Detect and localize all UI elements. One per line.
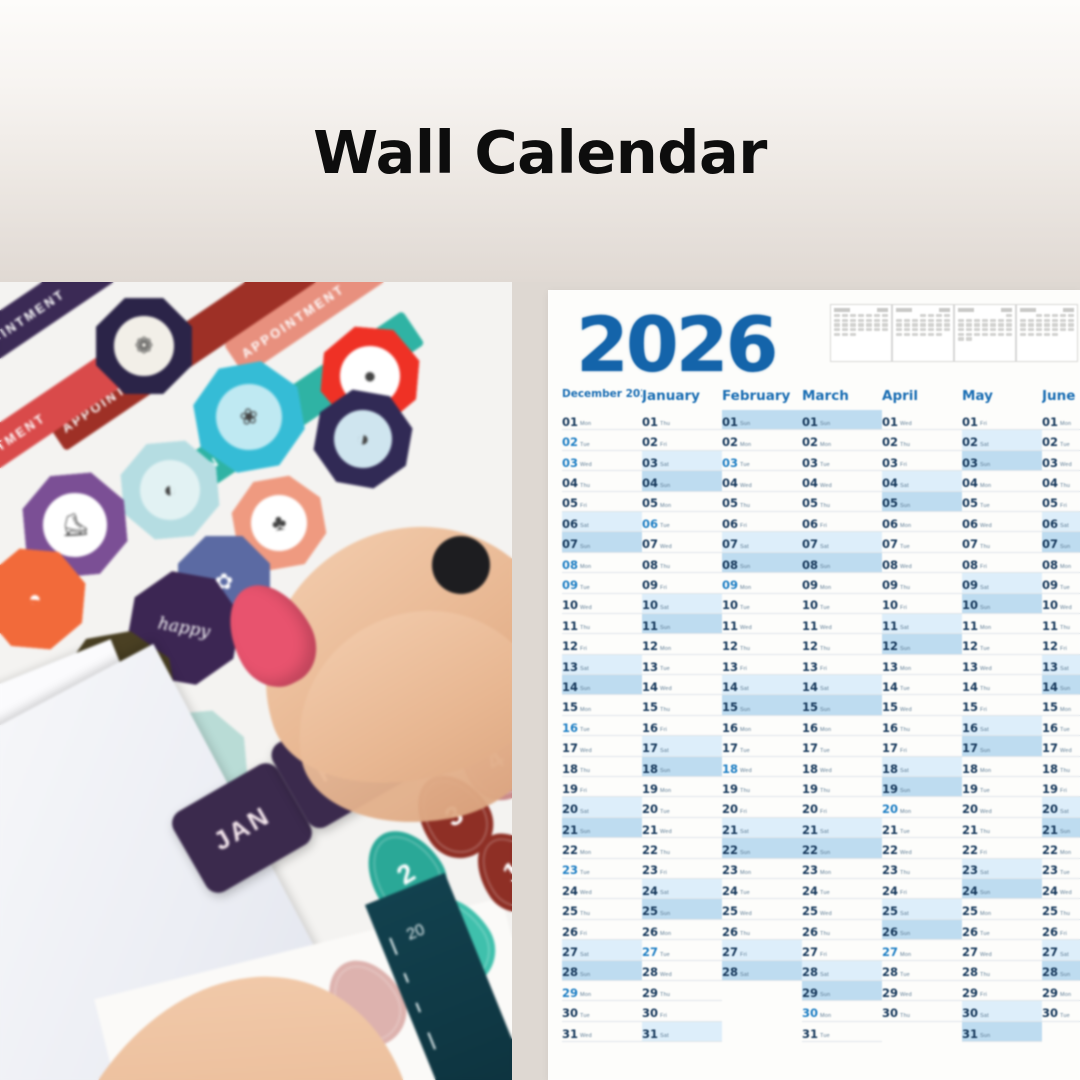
day-number: 23 bbox=[882, 865, 898, 877]
calendar-day-row[interactable]: 11Thu bbox=[562, 614, 642, 634]
calendar-day-row[interactable]: 05Fri bbox=[562, 492, 642, 512]
calendar-day-row[interactable]: 09Sat bbox=[962, 573, 1042, 593]
calendar-day-row[interactable]: 03Sun bbox=[962, 451, 1042, 471]
day-number: 03 bbox=[722, 458, 738, 470]
calendar-day-row[interactable]: 24Wed bbox=[562, 879, 642, 899]
day-weekday-abbr: Sat bbox=[580, 667, 589, 673]
day-weekday-abbr: Mon bbox=[820, 443, 831, 449]
day-weekday-abbr: Tue bbox=[580, 728, 590, 734]
day-number: 18 bbox=[802, 764, 818, 776]
day-number: 19 bbox=[642, 784, 658, 796]
day-weekday-abbr: Thu bbox=[1060, 912, 1070, 918]
calendar-day-row[interactable]: 06Fri bbox=[722, 512, 802, 532]
calendar-day-row[interactable]: 12Tue bbox=[962, 634, 1042, 654]
calendar-day-row[interactable]: 28Sun bbox=[562, 961, 642, 981]
calendar-day-row[interactable]: 09Mon bbox=[722, 573, 802, 593]
calendar-day-row[interactable]: 04Wed bbox=[802, 471, 882, 491]
day-number: 09 bbox=[802, 580, 818, 592]
calendar-day-row[interactable]: 14Wed bbox=[642, 675, 722, 695]
calendar-day-row[interactable]: 03Wed bbox=[1042, 451, 1080, 471]
calendar-day-row[interactable]: 18Thu bbox=[1042, 757, 1080, 777]
day-weekday-abbr: Fri bbox=[660, 443, 667, 449]
calendar-day-row[interactable]: 24Sat bbox=[642, 879, 722, 899]
calendar-day-row[interactable]: 31Sun bbox=[962, 1022, 1042, 1042]
day-number: 11 bbox=[722, 621, 738, 633]
calendar-day-row[interactable]: 04Thu bbox=[562, 471, 642, 491]
calendar-day-row[interactable]: 05Fri bbox=[1042, 492, 1080, 512]
calendar-day-row[interactable]: 27Sat bbox=[562, 940, 642, 960]
calendar-day-row[interactable]: 26Thu bbox=[802, 920, 882, 940]
day-number: 15 bbox=[962, 702, 978, 714]
day-number: 08 bbox=[882, 560, 898, 572]
calendar-day-row[interactable]: 06Mon bbox=[882, 512, 962, 532]
calendar-day-row[interactable]: 01Sun bbox=[722, 410, 802, 430]
calendar-day-row[interactable]: 21Thu bbox=[962, 818, 1042, 838]
calendar-day-row[interactable]: 02Thu bbox=[882, 430, 962, 450]
calendar-day-row[interactable]: 07Sun bbox=[562, 532, 642, 552]
calendar-day-row[interactable]: 02Tue bbox=[1042, 430, 1080, 450]
day-weekday-abbr: Sun bbox=[820, 851, 830, 857]
calendar-day-row[interactable]: 14Sat bbox=[722, 675, 802, 695]
calendar-day-row[interactable]: 04Wed bbox=[722, 471, 802, 491]
day-number: 11 bbox=[802, 621, 818, 633]
calendar-day-row[interactable]: 20Sat bbox=[562, 797, 642, 817]
day-number: 01 bbox=[1042, 417, 1058, 429]
calendar-day-row[interactable]: 29Wed bbox=[882, 981, 962, 1001]
calendar-day-row[interactable]: 10Wed bbox=[562, 594, 642, 614]
calendar-day-row[interactable]: 20Wed bbox=[962, 797, 1042, 817]
calendar-day-row[interactable]: 30Thu bbox=[882, 1001, 962, 1021]
day-number: 23 bbox=[722, 865, 738, 877]
ruler-label: 20 bbox=[404, 921, 427, 944]
calendar-day-row[interactable]: 22Mon bbox=[1042, 838, 1080, 858]
calendar-day-row[interactable]: 06Tue bbox=[642, 512, 722, 532]
calendar-day-row[interactable]: 17Wed bbox=[562, 736, 642, 756]
calendar-day-row[interactable]: 09Tue bbox=[1042, 573, 1080, 593]
calendar-day-row[interactable]: 15Thu bbox=[642, 695, 722, 715]
calendar-day-row[interactable]: 29Mon bbox=[1042, 981, 1080, 1001]
calendar-day-row[interactable]: 14Thu bbox=[962, 675, 1042, 695]
calendar-day-row[interactable]: 16Thu bbox=[882, 716, 962, 736]
calendar-day-row[interactable]: 14Sat bbox=[802, 675, 882, 695]
calendar-day-row[interactable]: 06Sat bbox=[562, 512, 642, 532]
day-number: 11 bbox=[1042, 621, 1058, 633]
wall-calendar-poster: 2026 December 202501Mon02Tue03Wed04Thu05… bbox=[548, 290, 1080, 1080]
calendar-day-row[interactable]: 16Fri bbox=[642, 716, 722, 736]
calendar-day-row[interactable]: 13Fri bbox=[802, 655, 882, 675]
calendar-day-row[interactable]: 04Mon bbox=[962, 471, 1042, 491]
day-number: 05 bbox=[802, 498, 818, 510]
calendar-day-row[interactable]: 09Mon bbox=[802, 573, 882, 593]
day-number: 11 bbox=[642, 621, 658, 633]
calendar-day-row[interactable]: 08Mon bbox=[562, 553, 642, 573]
calendar-day-row[interactable]: 05Tue bbox=[962, 492, 1042, 512]
calendar-day-row[interactable]: 07Tue bbox=[882, 532, 962, 552]
calendar-day-row[interactable]: 28Sun bbox=[1042, 961, 1080, 981]
day-weekday-abbr: Thu bbox=[660, 422, 670, 428]
calendar-day-row[interactable]: 02Mon bbox=[802, 430, 882, 450]
calendar-day-row[interactable]: 03Sat bbox=[642, 451, 722, 471]
calendar-day-row[interactable]: 25Sat bbox=[882, 899, 962, 919]
day-weekday-abbr: Sun bbox=[580, 545, 590, 551]
calendar-day-row[interactable]: 19Tue bbox=[962, 777, 1042, 797]
day-number: 30 bbox=[562, 1008, 578, 1020]
day-weekday-abbr: Fri bbox=[740, 667, 747, 673]
calendar-day-row[interactable]: 14Tue bbox=[882, 675, 962, 695]
calendar-day-row[interactable]: 16Tue bbox=[562, 716, 642, 736]
calendar-day-row[interactable]: 17Fri bbox=[882, 736, 962, 756]
calendar-day-row[interactable]: 08Sun bbox=[722, 553, 802, 573]
calendar-day-row[interactable]: 27Fri bbox=[722, 940, 802, 960]
calendar-day-row[interactable]: 13Wed bbox=[962, 655, 1042, 675]
calendar-day-row[interactable]: 11Wed bbox=[802, 614, 882, 634]
calendar-day-row[interactable]: 08Sun bbox=[802, 553, 882, 573]
calendar-day-row[interactable]: 20Sat bbox=[1042, 797, 1080, 817]
day-weekday-abbr: Fri bbox=[740, 810, 747, 816]
calendar-day-row[interactable]: 27Mon bbox=[882, 940, 962, 960]
calendar-day-row[interactable]: 05Sun bbox=[882, 492, 962, 512]
calendar-day-row[interactable]: 04Thu bbox=[1042, 471, 1080, 491]
calendar-day-row[interactable]: 05Thu bbox=[802, 492, 882, 512]
day-number: 07 bbox=[562, 539, 578, 551]
day-weekday-abbr: Sat bbox=[580, 953, 589, 959]
day-number: 13 bbox=[802, 662, 818, 674]
day-number: 24 bbox=[802, 886, 818, 898]
calendar-day-row[interactable]: 13Sat bbox=[562, 655, 642, 675]
calendar-day-row[interactable]: 23Fri bbox=[642, 859, 722, 879]
calendar-day-row[interactable]: 09Tue bbox=[562, 573, 642, 593]
day-weekday-abbr: Sat bbox=[580, 810, 589, 816]
calendar-day-row[interactable]: 07Sat bbox=[802, 532, 882, 552]
calendar-day-row[interactable]: 18Wed bbox=[802, 757, 882, 777]
day-number: 29 bbox=[802, 988, 818, 1000]
calendar-day-row[interactable]: 08Fri bbox=[962, 553, 1042, 573]
calendar-day-row[interactable]: 26Sun bbox=[882, 920, 962, 940]
calendar-day-row[interactable]: 02Sat bbox=[962, 430, 1042, 450]
day-weekday-abbr: Sun bbox=[980, 606, 990, 612]
day-weekday-abbr: Tue bbox=[980, 932, 990, 938]
mini-month-header bbox=[834, 308, 888, 312]
day-number: 25 bbox=[802, 906, 818, 918]
calendar-day-row[interactable]: 13Sat bbox=[1042, 655, 1080, 675]
calendar-day-row[interactable]: 01Sun bbox=[802, 410, 882, 430]
calendar-day-row[interactable]: 28Sat bbox=[722, 961, 802, 981]
calendar-day-row[interactable]: 17Tue bbox=[722, 736, 802, 756]
day-weekday-abbr: Wed bbox=[660, 545, 672, 551]
calendar-day-row[interactable]: 27Fri bbox=[802, 940, 882, 960]
calendar-day-row[interactable]: 11Sun bbox=[642, 614, 722, 634]
calendar-day-row[interactable]: 08Mon bbox=[1042, 553, 1080, 573]
calendar-day-row[interactable]: 01Thu bbox=[642, 410, 722, 430]
calendar-day-row[interactable]: 18Thu bbox=[562, 757, 642, 777]
calendar-day-row[interactable]: 17Wed bbox=[1042, 736, 1080, 756]
calendar-day-row[interactable]: 07Wed bbox=[642, 532, 722, 552]
calendar-day-row[interactable]: 26Thu bbox=[722, 920, 802, 940]
calendar-day-row[interactable]: 24Sun bbox=[962, 879, 1042, 899]
calendar-day-row[interactable]: 11Mon bbox=[962, 614, 1042, 634]
day-weekday-abbr: Tue bbox=[1060, 586, 1070, 592]
day-number: 27 bbox=[1042, 947, 1058, 959]
calendar-day-row[interactable]: 02Mon bbox=[722, 430, 802, 450]
day-weekday-abbr: Thu bbox=[580, 484, 590, 490]
day-number: 27 bbox=[722, 947, 738, 959]
day-weekday-abbr: Sun bbox=[580, 830, 590, 836]
mini-month-day-grid bbox=[896, 314, 950, 341]
calendar-day-row[interactable]: 12Thu bbox=[722, 634, 802, 654]
calendar-day-row[interactable]: 18Sun bbox=[642, 757, 722, 777]
day-number: 15 bbox=[882, 702, 898, 714]
calendar-day-row[interactable]: 22Thu bbox=[642, 838, 722, 858]
day-number: 20 bbox=[642, 804, 658, 816]
calendar-day-row[interactable]: 05Mon bbox=[642, 492, 722, 512]
calendar-day-row[interactable]: 26Fri bbox=[1042, 920, 1080, 940]
calendar-day-row[interactable]: 15Mon bbox=[562, 695, 642, 715]
calendar-day-row[interactable]: 29Fri bbox=[962, 981, 1042, 1001]
day-weekday-abbr: Tue bbox=[1060, 728, 1070, 734]
calendar-day-row[interactable]: 16Tue bbox=[1042, 716, 1080, 736]
calendar-day-row[interactable]: 02Fri bbox=[642, 430, 722, 450]
day-weekday-abbr: Fri bbox=[820, 524, 827, 530]
calendar-day-row[interactable]: 01Mon bbox=[1042, 410, 1080, 430]
calendar-day-row[interactable]: 17Sun bbox=[962, 736, 1042, 756]
day-number: 02 bbox=[642, 437, 658, 449]
calendar-day-row[interactable]: 30Fri bbox=[642, 1001, 722, 1021]
calendar-day-row[interactable]: 19Sun bbox=[882, 777, 962, 797]
calendar-day-row[interactable]: 11Wed bbox=[722, 614, 802, 634]
day-weekday-abbr: Tue bbox=[820, 463, 830, 469]
calendar-day-row[interactable]: 25Sun bbox=[642, 899, 722, 919]
calendar-day-row[interactable]: 15Sun bbox=[722, 695, 802, 715]
month-name: December 2025 bbox=[562, 388, 642, 404]
calendar-day-row[interactable]: 01Fri bbox=[962, 410, 1042, 430]
calendar-day-row[interactable]: 22Sun bbox=[802, 838, 882, 858]
calendar-day-row[interactable]: 25Thu bbox=[1042, 899, 1080, 919]
calendar-day-row[interactable]: 29Sun bbox=[802, 981, 882, 1001]
calendar-day-row[interactable]: 28Sat bbox=[802, 961, 882, 981]
day-weekday-abbr: Thu bbox=[980, 545, 990, 551]
calendar-day-row[interactable]: 14Sun bbox=[562, 675, 642, 695]
calendar-day-row[interactable]: 26Fri bbox=[562, 920, 642, 940]
calendar-day-row[interactable]: 25Mon bbox=[962, 899, 1042, 919]
calendar-day-row[interactable]: 19Fri bbox=[1042, 777, 1080, 797]
calendar-day-row[interactable]: 31Tue bbox=[802, 1022, 882, 1042]
calendar-day-row[interactable]: 15Sun bbox=[802, 695, 882, 715]
day-number: 21 bbox=[562, 825, 578, 837]
calendar-day-row[interactable]: 04Sun bbox=[642, 471, 722, 491]
calendar-day-row[interactable]: 25Wed bbox=[802, 899, 882, 919]
calendar-day-row[interactable]: 18Wed bbox=[722, 757, 802, 777]
day-weekday-abbr: Fri bbox=[660, 728, 667, 734]
calendar-day-row[interactable]: 08Thu bbox=[642, 553, 722, 573]
calendar-day-row[interactable]: 06Wed bbox=[962, 512, 1042, 532]
day-number: 13 bbox=[962, 662, 978, 674]
day-number: 21 bbox=[962, 825, 978, 837]
calendar-day-row[interactable]: 01Mon bbox=[562, 410, 642, 430]
calendar-day-row[interactable]: 12Mon bbox=[642, 634, 722, 654]
calendar-day-row[interactable]: 20Fri bbox=[802, 797, 882, 817]
calendar-day-row[interactable]: 10Fri bbox=[882, 594, 962, 614]
calendar-day-row[interactable]: 24Tue bbox=[802, 879, 882, 899]
calendar-day-row[interactable]: 29Mon bbox=[562, 981, 642, 1001]
day-weekday-abbr: Sun bbox=[900, 932, 910, 938]
calendar-day-row[interactable]: 15Mon bbox=[1042, 695, 1080, 715]
calendar-day-row[interactable]: 17Sat bbox=[642, 736, 722, 756]
calendar-day-row[interactable]: 17Tue bbox=[802, 736, 882, 756]
calendar-day-row[interactable]: 18Mon bbox=[962, 757, 1042, 777]
calendar-day-row[interactable]: 12Fri bbox=[562, 634, 642, 654]
day-weekday-abbr: Thu bbox=[660, 565, 670, 571]
day-weekday-abbr: Fri bbox=[580, 504, 587, 510]
calendar-day-row[interactable]: 18Sat bbox=[882, 757, 962, 777]
calendar-day-row[interactable]: 10Wed bbox=[1042, 594, 1080, 614]
day-number: 15 bbox=[722, 702, 738, 714]
page-title: Wall Calendar bbox=[0, 118, 1080, 187]
calendar-day-row[interactable]: 14Sun bbox=[1042, 675, 1080, 695]
day-number: 28 bbox=[882, 967, 898, 979]
calendar-day-row[interactable]: 16Sat bbox=[962, 716, 1042, 736]
calendar-day-row[interactable]: 21Tue bbox=[882, 818, 962, 838]
calendar-day-row[interactable]: 10Sat bbox=[642, 594, 722, 614]
calendar-day-row[interactable]: 19Thu bbox=[802, 777, 882, 797]
calendar-day-row[interactable]: 19Mon bbox=[642, 777, 722, 797]
calendar-day-row[interactable]: 03Tue bbox=[802, 451, 882, 471]
day-weekday-abbr: Sun bbox=[820, 565, 830, 571]
day-weekday-abbr: Thu bbox=[980, 973, 990, 979]
calendar-day-row[interactable]: 22Wed bbox=[882, 838, 962, 858]
calendar-day-row[interactable]: 26Mon bbox=[642, 920, 722, 940]
calendar-day-row[interactable]: 30Tue bbox=[562, 1001, 642, 1021]
calendar-day-row[interactable]: 11Sat bbox=[882, 614, 962, 634]
day-weekday-abbr: Tue bbox=[580, 1014, 590, 1020]
calendar-day-row[interactable]: 30Tue bbox=[1042, 1001, 1080, 1021]
calendar-day-row[interactable]: 29Thu bbox=[642, 981, 722, 1001]
calendar-day-row[interactable]: 25Thu bbox=[562, 899, 642, 919]
calendar-day-row[interactable]: 20Mon bbox=[882, 797, 962, 817]
calendar-day-row[interactable]: 06Sat bbox=[1042, 512, 1080, 532]
calendar-day-row[interactable]: 24Wed bbox=[1042, 879, 1080, 899]
day-weekday-abbr: Sat bbox=[980, 871, 989, 877]
calendar-day-row[interactable]: 31Sat bbox=[642, 1022, 722, 1042]
calendar-day-row[interactable]: 12Sun bbox=[882, 634, 962, 654]
calendar-day-row[interactable]: 12Fri bbox=[1042, 634, 1080, 654]
calendar-day-row[interactable]: 07Sun bbox=[1042, 532, 1080, 552]
day-number: 01 bbox=[562, 417, 578, 429]
calendar-day-row[interactable]: 10Tue bbox=[722, 594, 802, 614]
calendar-day-row[interactable]: 21Sat bbox=[802, 818, 882, 838]
calendar-day-row[interactable]: 24Fri bbox=[882, 879, 962, 899]
calendar-day-row[interactable]: 25Wed bbox=[722, 899, 802, 919]
calendar-day-row[interactable]: 21Sat bbox=[722, 818, 802, 838]
calendar-day-row[interactable]: 13Fri bbox=[722, 655, 802, 675]
calendar-day-row[interactable]: 23Thu bbox=[882, 859, 962, 879]
day-number: 24 bbox=[962, 886, 978, 898]
calendar-day-row[interactable]: 27Sat bbox=[1042, 940, 1080, 960]
calendar-day-row[interactable]: 20Fri bbox=[722, 797, 802, 817]
day-weekday-abbr: Mon bbox=[820, 586, 831, 592]
day-number: 12 bbox=[642, 641, 658, 653]
calendar-day-row[interactable]: 15Wed bbox=[882, 695, 962, 715]
calendar-day-row[interactable]: 23Tue bbox=[562, 859, 642, 879]
calendar-day-row[interactable]: 24Tue bbox=[722, 879, 802, 899]
day-number: 25 bbox=[882, 906, 898, 918]
day-number: 12 bbox=[722, 641, 738, 653]
calendar-day-row[interactable]: 22Sun bbox=[722, 838, 802, 858]
calendar-day-row[interactable]: 07Sat bbox=[722, 532, 802, 552]
calendar-day-row[interactable]: 02Tue bbox=[562, 430, 642, 450]
day-number: 19 bbox=[1042, 784, 1058, 796]
day-number: 14 bbox=[882, 682, 898, 694]
calendar-day-row[interactable]: 20Tue bbox=[642, 797, 722, 817]
calendar-day-row[interactable]: 28Wed bbox=[642, 961, 722, 981]
calendar-day-row[interactable]: 09Thu bbox=[882, 573, 962, 593]
day-number: 12 bbox=[1042, 641, 1058, 653]
calendar-day-row[interactable]: 13Mon bbox=[882, 655, 962, 675]
calendar-day-row[interactable]: 26Tue bbox=[962, 920, 1042, 940]
calendar-day-row[interactable]: 04Sat bbox=[882, 471, 962, 491]
day-weekday-abbr: Wed bbox=[900, 708, 912, 714]
calendar-day-row[interactable]: 27Wed bbox=[962, 940, 1042, 960]
day-number: 17 bbox=[802, 743, 818, 755]
calendar-day-row[interactable]: 30Mon bbox=[802, 1001, 882, 1021]
calendar-day-row[interactable]: 06Fri bbox=[802, 512, 882, 532]
calendar-day-row[interactable]: 23Mon bbox=[802, 859, 882, 879]
calendar-day-row[interactable]: 10Sun bbox=[962, 594, 1042, 614]
calendar-day-row[interactable]: 08Wed bbox=[882, 553, 962, 573]
day-weekday-abbr: Sat bbox=[900, 769, 909, 775]
day-weekday-abbr: Wed bbox=[900, 565, 912, 571]
day-weekday-abbr: Sun bbox=[900, 789, 910, 795]
calendar-day-row[interactable]: 23Mon bbox=[722, 859, 802, 879]
calendar-day-row[interactable]: 09Fri bbox=[642, 573, 722, 593]
calendar-day-row[interactable]: 31Wed bbox=[562, 1022, 642, 1042]
calendar-day-row[interactable]: 21Sun bbox=[1042, 818, 1080, 838]
calendar-day-row[interactable]: 16Mon bbox=[802, 716, 882, 736]
calendar-day-row[interactable]: 28Tue bbox=[882, 961, 962, 981]
calendar-day-row[interactable]: 07Thu bbox=[962, 532, 1042, 552]
day-number: 21 bbox=[642, 825, 658, 837]
calendar-day-row[interactable]: 30Sat bbox=[962, 1001, 1042, 1021]
calendar-day-row[interactable]: 19Fri bbox=[562, 777, 642, 797]
day-number: 24 bbox=[562, 886, 578, 898]
mini-month-grid-row bbox=[830, 304, 1078, 362]
calendar-day-row[interactable]: 03Wed bbox=[562, 451, 642, 471]
calendar-day-row[interactable]: 05Thu bbox=[722, 492, 802, 512]
calendar-day-row[interactable]: 23Tue bbox=[1042, 859, 1080, 879]
calendar-day-row[interactable]: 16Mon bbox=[722, 716, 802, 736]
calendar-day-row[interactable]: 10Tue bbox=[802, 594, 882, 614]
calendar-day-row[interactable]: 28Thu bbox=[962, 961, 1042, 981]
calendar-day-row[interactable]: 03Fri bbox=[882, 451, 962, 471]
calendar-day-row[interactable]: 12Thu bbox=[802, 634, 882, 654]
day-weekday-abbr: Sat bbox=[900, 484, 909, 490]
calendar-day-row[interactable]: 15Fri bbox=[962, 695, 1042, 715]
calendar-day-row[interactable]: 11Thu bbox=[1042, 614, 1080, 634]
calendar-day-row[interactable]: 03Tue bbox=[722, 451, 802, 471]
day-weekday-abbr: Sat bbox=[820, 830, 829, 836]
calendar-day-row[interactable]: 21Sun bbox=[562, 818, 642, 838]
calendar-day-row[interactable]: 22Mon bbox=[562, 838, 642, 858]
calendar-day-row[interactable]: 21Wed bbox=[642, 818, 722, 838]
day-number: 30 bbox=[1042, 1008, 1058, 1020]
calendar-day-row[interactable]: 22Fri bbox=[962, 838, 1042, 858]
calendar-day-row[interactable]: 13Tue bbox=[642, 655, 722, 675]
calendar-day-row[interactable]: 27Tue bbox=[642, 940, 722, 960]
calendar-day-row[interactable]: 19Thu bbox=[722, 777, 802, 797]
calendar-day-row[interactable]: 01Wed bbox=[882, 410, 962, 430]
day-weekday-abbr: Thu bbox=[740, 789, 750, 795]
day-weekday-abbr: Fri bbox=[1060, 504, 1067, 510]
calendar-day-row[interactable]: 23Sat bbox=[962, 859, 1042, 879]
